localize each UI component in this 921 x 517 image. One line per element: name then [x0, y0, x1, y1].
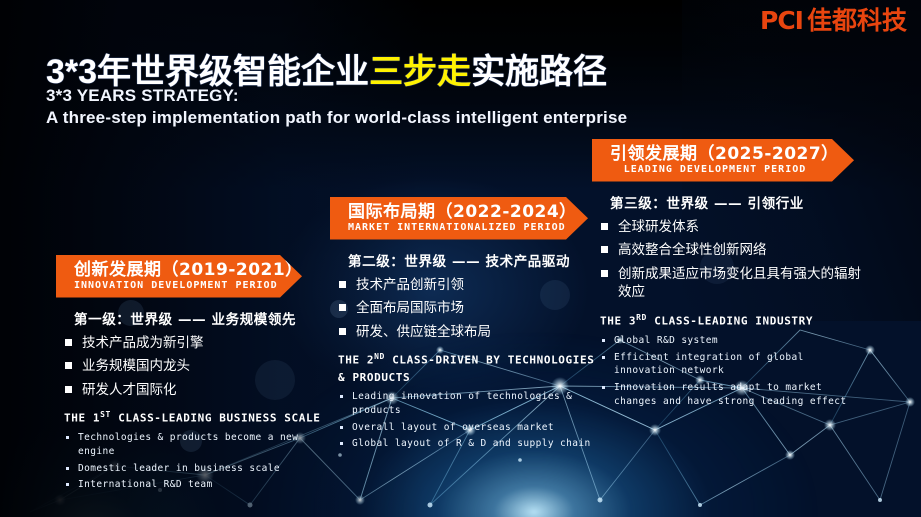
list-item: Overall layout of overseas market	[338, 421, 606, 435]
list-item: 技术产品创新引领	[338, 276, 606, 295]
list-item: Global R&D system	[600, 334, 868, 348]
list-item: 业务规模国内龙头	[64, 357, 322, 376]
list-item: Innovation results adapt to market chang…	[600, 381, 868, 409]
step-2-banner-subtitle: MARKET INTERNATIONALIZED PERIOD	[348, 222, 554, 235]
step-1-level-en-post: CLASS-LEADING BUSINESS SCALE	[111, 412, 320, 425]
step-2-level-cn: 第二级：世界级 —— 技术产品驱动	[348, 250, 606, 270]
step-3-level-cn: 第三级：世界级 —— 引领行业	[610, 192, 868, 212]
step-1-points-en: Technologies & products become a new eng…	[64, 431, 322, 492]
step-2-level-en-ordinal: ND	[374, 352, 385, 361]
list-item: 高效整合全球性创新网络	[600, 241, 868, 260]
step-1-body: 第一级：世界级 —— 业务规模领先 技术产品成为新引擎 业务规模国内龙头 研发人…	[56, 298, 326, 493]
step-3-banner-subtitle: LEADING DEVELOPMENT PERIOD	[610, 164, 820, 177]
page-title-part2: 实施路径	[471, 53, 607, 91]
page-title-highlight: 三步走	[369, 53, 471, 91]
list-item: Global layout of R & D and supply chain	[338, 437, 606, 451]
step-2-banner[interactable]: 国际布局期（2022-2024） MARKET INTERNATIONALIZE…	[330, 197, 588, 240]
step-3-banner[interactable]: 引领发展期（2025-2027） LEADING DEVELOPMENT PER…	[592, 139, 854, 182]
step-2-level-en-pre: THE 2	[338, 354, 374, 367]
page-subtitle-line1: 3*3 YEARS STRATEGY:	[46, 86, 239, 106]
step-1-banner-title: 创新发展期（2019-2021）	[74, 260, 268, 280]
step-3-banner-title: 引领发展期（2025-2027）	[610, 144, 820, 164]
step-1-level-en-ordinal: ST	[100, 410, 111, 419]
step-2-level-en: THE 2ND CLASS-DRIVEN BY TECHNOLOGIES & P…	[338, 351, 606, 386]
list-item: 全面布局国际市场	[338, 299, 606, 318]
step-2-points-en: Leading innovation of technologies & pro…	[338, 390, 606, 451]
brand-logo: PCI 佳都科技	[760, 8, 907, 33]
slide-canvas: PCI 佳都科技 3*3年世界级智能企业三步走实施路径 3*3 YEARS ST…	[0, 0, 921, 517]
step-1-banner[interactable]: 创新发展期（2019-2021） INNOVATION DEVELOPMENT …	[56, 255, 302, 298]
list-item: 创新成果适应市场变化且具有强大的辐射效应	[600, 265, 868, 302]
logo-mark-text: PCI	[760, 8, 803, 33]
step-2-body: 第二级：世界级 —— 技术产品驱动 技术产品创新引领 全面布局国际市场 研发、供…	[330, 240, 610, 452]
step-1-level-en: THE 1ST CLASS-LEADING BUSINESS SCALE	[64, 409, 322, 427]
step-1-banner-subtitle: INNOVATION DEVELOPMENT PERIOD	[74, 280, 268, 293]
step-2-banner-title: 国际布局期（2022-2024）	[348, 202, 554, 222]
list-item: Domestic leader in business scale	[64, 462, 322, 476]
logo-name-text: 佳都科技	[807, 8, 907, 33]
step-3-body: 第三级：世界级 —— 引领行业 全球研发体系 高效整合全球性创新网络 创新成果适…	[592, 182, 872, 409]
list-item: International R&D team	[64, 478, 322, 492]
step-3-points-en: Global R&D system Efficient integration …	[600, 334, 868, 409]
step-3-level-en: THE 3RD CLASS-LEADING INDUSTRY	[600, 312, 868, 330]
list-item: 研发、供应链全球布局	[338, 323, 606, 342]
step-3-level-en-ordinal: RD	[636, 313, 647, 322]
list-item: 研发人才国际化	[64, 381, 322, 400]
page-subtitle-line2: A three-step implementation path for wor…	[46, 108, 627, 128]
list-item: Leading innovation of technologies & pro…	[338, 390, 606, 418]
step-1-level-en-pre: THE 1	[64, 412, 100, 425]
list-item: 全球研发体系	[600, 218, 868, 237]
step-1-points-cn: 技术产品成为新引擎 业务规模国内龙头 研发人才国际化	[64, 334, 322, 400]
list-item: 技术产品成为新引擎	[64, 334, 322, 353]
step-card-1: 创新发展期（2019-2021） INNOVATION DEVELOPMENT …	[56, 255, 326, 495]
step-3-points-cn: 全球研发体系 高效整合全球性创新网络 创新成果适应市场变化且具有强大的辐射效应	[600, 218, 868, 303]
list-item: Technologies & products become a new eng…	[64, 431, 322, 459]
step-card-2: 国际布局期（2022-2024） MARKET INTERNATIONALIZE…	[330, 197, 610, 454]
step-1-level-cn: 第一级：世界级 —— 业务规模领先	[74, 308, 322, 328]
step-2-points-cn: 技术产品创新引领 全面布局国际市场 研发、供应链全球布局	[338, 276, 606, 342]
list-item: Efficient integration of global innovati…	[600, 351, 868, 379]
step-3-level-en-post: CLASS-LEADING INDUSTRY	[647, 315, 813, 328]
step-3-level-en-pre: THE 3	[600, 315, 636, 328]
step-card-3: 引领发展期（2025-2027） LEADING DEVELOPMENT PER…	[592, 139, 872, 412]
